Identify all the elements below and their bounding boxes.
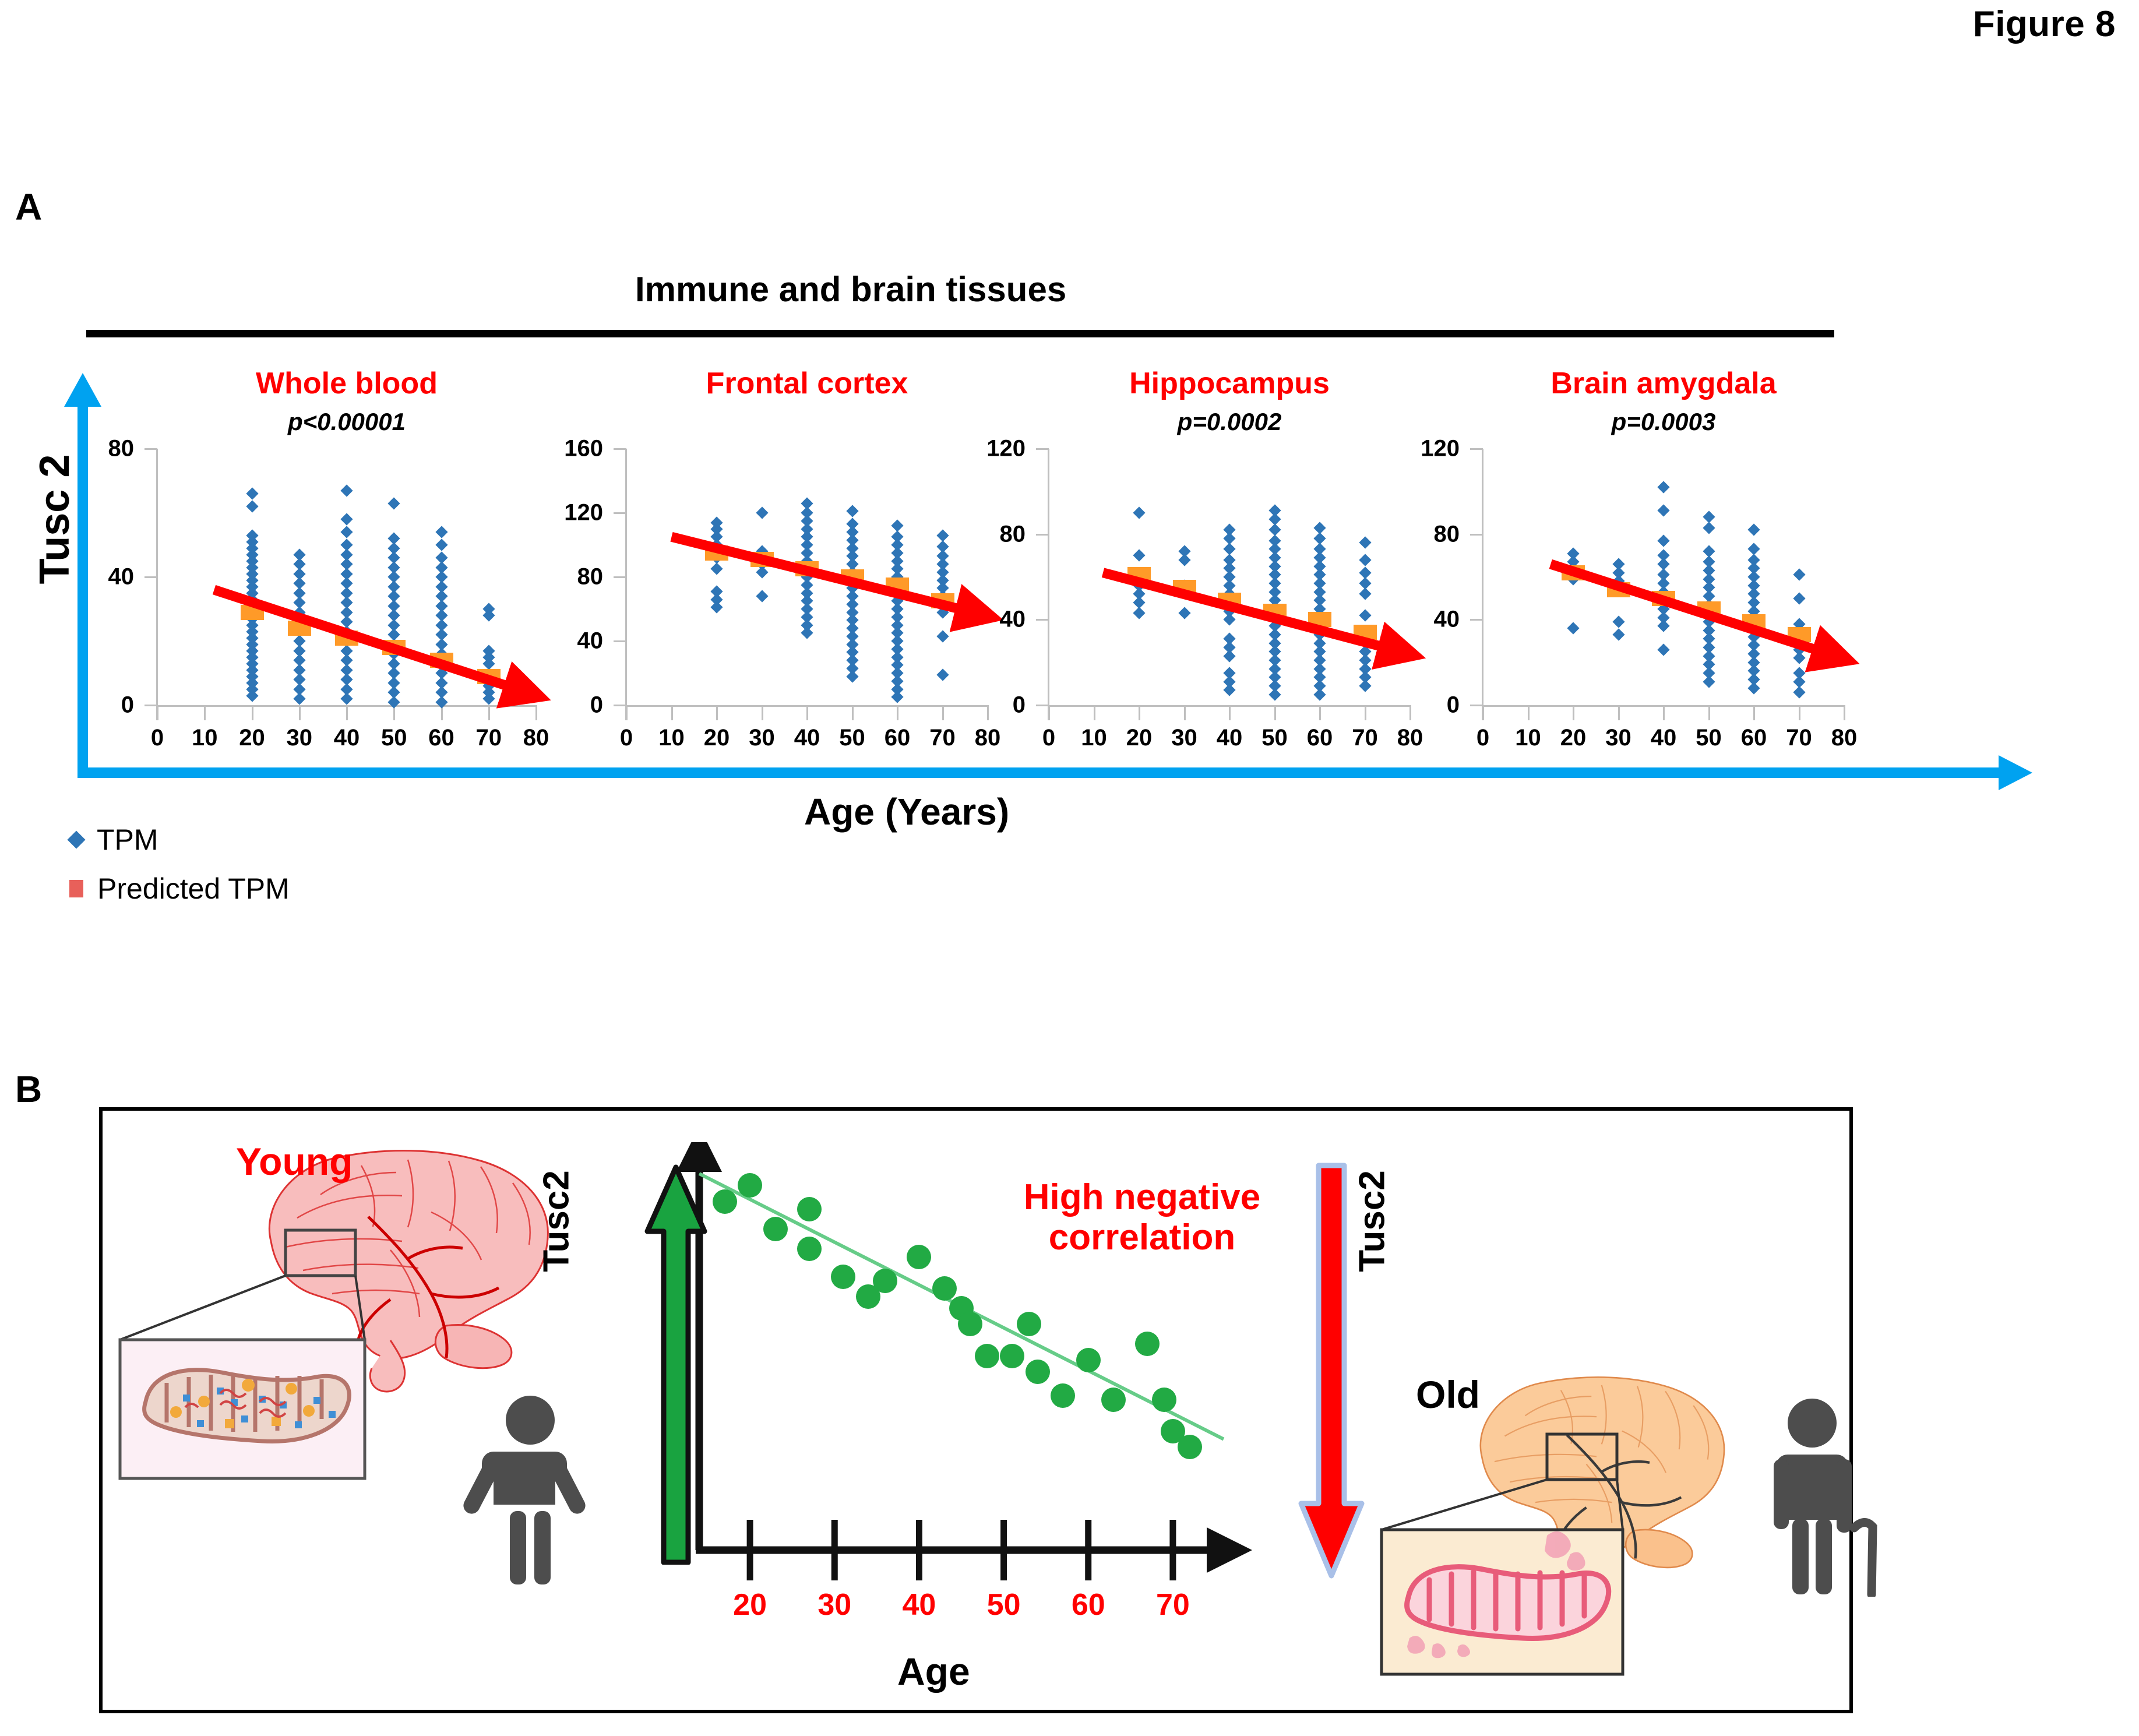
schematic-data-point — [1152, 1388, 1176, 1412]
old-mitochondria-callout — [1372, 1431, 1780, 1710]
schematic-data-point — [1135, 1332, 1160, 1356]
young-brain-label: Young — [236, 1139, 353, 1184]
schematic-data-point — [932, 1276, 957, 1301]
tusc2-up-arrow-icon — [644, 1163, 708, 1565]
panel-b-x-tick-label: 40 — [902, 1587, 936, 1622]
schematic-data-point — [1101, 1388, 1126, 1412]
correlation-label-line-1: correlation — [979, 1217, 1305, 1258]
panel-b-x-tick-label: 60 — [1072, 1587, 1105, 1622]
square-marker-icon — [69, 880, 83, 897]
panel-a-subcharts: Whole bloodp<0.0000104080010203040506070… — [0, 0, 2139, 816]
panel-b-x-axis-label: Age — [897, 1649, 970, 1693]
legend-label-tpm: TPM — [97, 823, 158, 857]
schematic-data-point — [763, 1217, 788, 1241]
schematic-data-point — [1000, 1344, 1024, 1368]
subchart-brain-amygdala: Brain amygdalap=0.0003040801200102030405… — [0, 0, 2139, 816]
old-brain-label: Old — [1416, 1372, 1480, 1417]
panel-b-x-tick-label: 20 — [733, 1587, 767, 1622]
legend-label-predicted-tpm: Predicted TPM — [97, 872, 290, 906]
schematic-data-point — [738, 1173, 762, 1198]
schematic-data-point — [1051, 1383, 1075, 1408]
panel-b-x-tick-label: 50 — [987, 1587, 1021, 1622]
old-person-icon — [1748, 1399, 1894, 1597]
panel-b-x-tick-label: 70 — [1156, 1587, 1190, 1622]
schematic-data-point — [975, 1344, 999, 1368]
schematic-data-point — [1026, 1360, 1050, 1384]
young-person-icon — [463, 1396, 597, 1588]
schematic-data-point — [1017, 1312, 1041, 1336]
correlation-label-line-0: High negative — [979, 1177, 1305, 1217]
schematic-data-point — [797, 1237, 822, 1261]
schematic-data-point — [1076, 1348, 1101, 1372]
panel-b-y-axis-label-left: Tusc2 — [536, 1125, 577, 1318]
schematic-data-point — [873, 1269, 897, 1293]
schematic-data-point — [1178, 1435, 1202, 1459]
high-negative-correlation-label: High negativecorrelation — [979, 1177, 1305, 1258]
schematic-data-point — [713, 1189, 737, 1214]
schematic-data-point — [831, 1265, 855, 1289]
schematic-data-point — [907, 1245, 931, 1269]
legend-item-predicted-tpm: Predicted TPM — [64, 872, 290, 906]
panel-a-legend: TPM Predicted TPM — [64, 823, 290, 906]
tusc2-down-arrow-icon — [1296, 1160, 1366, 1579]
trendline-arrow-brain-amygdala — [0, 0, 2139, 816]
schematic-data-point — [958, 1312, 982, 1336]
legend-item-tpm: TPM — [64, 823, 290, 857]
schematic-data-point — [797, 1197, 822, 1221]
diamond-marker-icon — [67, 830, 85, 848]
panel-b-x-tick-label: 30 — [817, 1587, 851, 1622]
panel-b-letter: B — [15, 1068, 42, 1111]
